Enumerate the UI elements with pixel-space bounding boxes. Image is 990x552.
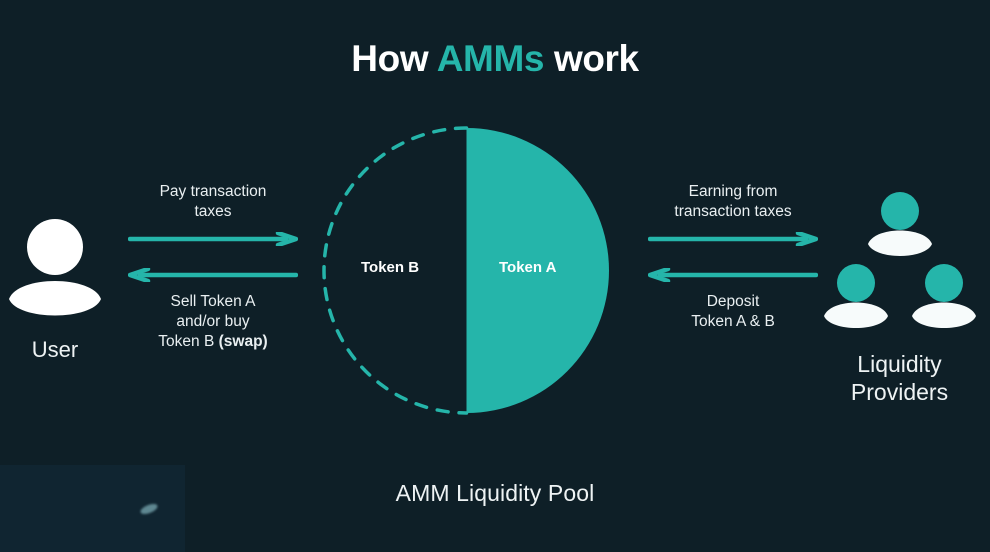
- flow-pool-to-liquidity-providers: Earning from transaction taxes Deposit T…: [648, 182, 818, 332]
- flow-left-bottom-caption-line3-plain: Token B: [158, 333, 218, 350]
- token-a-label: Token A: [499, 259, 557, 276]
- arrow-right-pay-taxes: [128, 232, 298, 246]
- actor-liquidity-providers-label: Liquidity Providers: [812, 350, 987, 406]
- people-group-icon: [812, 190, 987, 340]
- arrow-left-deposit-tokens: [648, 268, 818, 282]
- token-b-label: Token B: [361, 259, 419, 276]
- person-icon-top: [864, 190, 936, 258]
- flow-right-bottom-caption-line1: Deposit: [648, 292, 818, 312]
- flow-right-bottom-caption-line2: Token A & B: [648, 312, 818, 332]
- actor-lp-label-line2: Providers: [812, 378, 987, 406]
- actor-user: User: [0, 215, 110, 363]
- title-lead: How: [351, 38, 436, 79]
- flow-right-arrow-gap: [648, 246, 818, 268]
- flow-user-to-pool: Pay transaction taxes Sell Token A and/o…: [128, 182, 298, 352]
- arrow-left-sell-token: [128, 268, 298, 282]
- flow-left-bottom-caption: Sell Token A and/or buy Token B (swap): [128, 292, 298, 352]
- arrow-right-earning-from-taxes: [648, 232, 818, 246]
- person-icon: [0, 215, 110, 320]
- flow-left-bottom-caption-line1: Sell Token A: [128, 292, 298, 312]
- flow-right-top-caption: Earning from transaction taxes: [648, 182, 818, 222]
- flow-right-top-caption-line1: Earning from: [648, 182, 818, 202]
- flow-left-bottom-caption-line3: Token B (swap): [128, 332, 298, 352]
- person-icon-left: [820, 262, 892, 330]
- actor-user-label: User: [0, 337, 110, 363]
- flow-left-top-caption-line2: taxes: [128, 202, 298, 222]
- page-title: How AMMs work: [0, 38, 990, 80]
- flow-left-top-caption-line1: Pay transaction: [128, 182, 298, 202]
- diagram-canvas: How AMMs work User Pay transaction taxes…: [0, 0, 990, 552]
- flow-left-bottom-caption-line2: and/or buy: [128, 312, 298, 332]
- title-trail: work: [544, 38, 639, 79]
- flow-left-top-caption: Pay transaction taxes: [128, 182, 298, 222]
- actor-liquidity-providers: Liquidity Providers: [812, 190, 987, 406]
- flow-left-arrow-gap: [128, 246, 298, 268]
- pool-caption: AMM Liquidity Pool: [0, 480, 990, 507]
- flow-right-bottom-caption: Deposit Token A & B: [648, 292, 818, 332]
- flow-right-top-caption-line2: transaction taxes: [648, 202, 818, 222]
- title-accent: AMMs: [437, 38, 544, 79]
- actor-lp-label-line1: Liquidity: [812, 350, 987, 378]
- flow-left-bottom-caption-line3-bold: (swap): [219, 333, 268, 350]
- person-icon-right: [908, 262, 980, 330]
- background-artifact-patch: [0, 465, 185, 552]
